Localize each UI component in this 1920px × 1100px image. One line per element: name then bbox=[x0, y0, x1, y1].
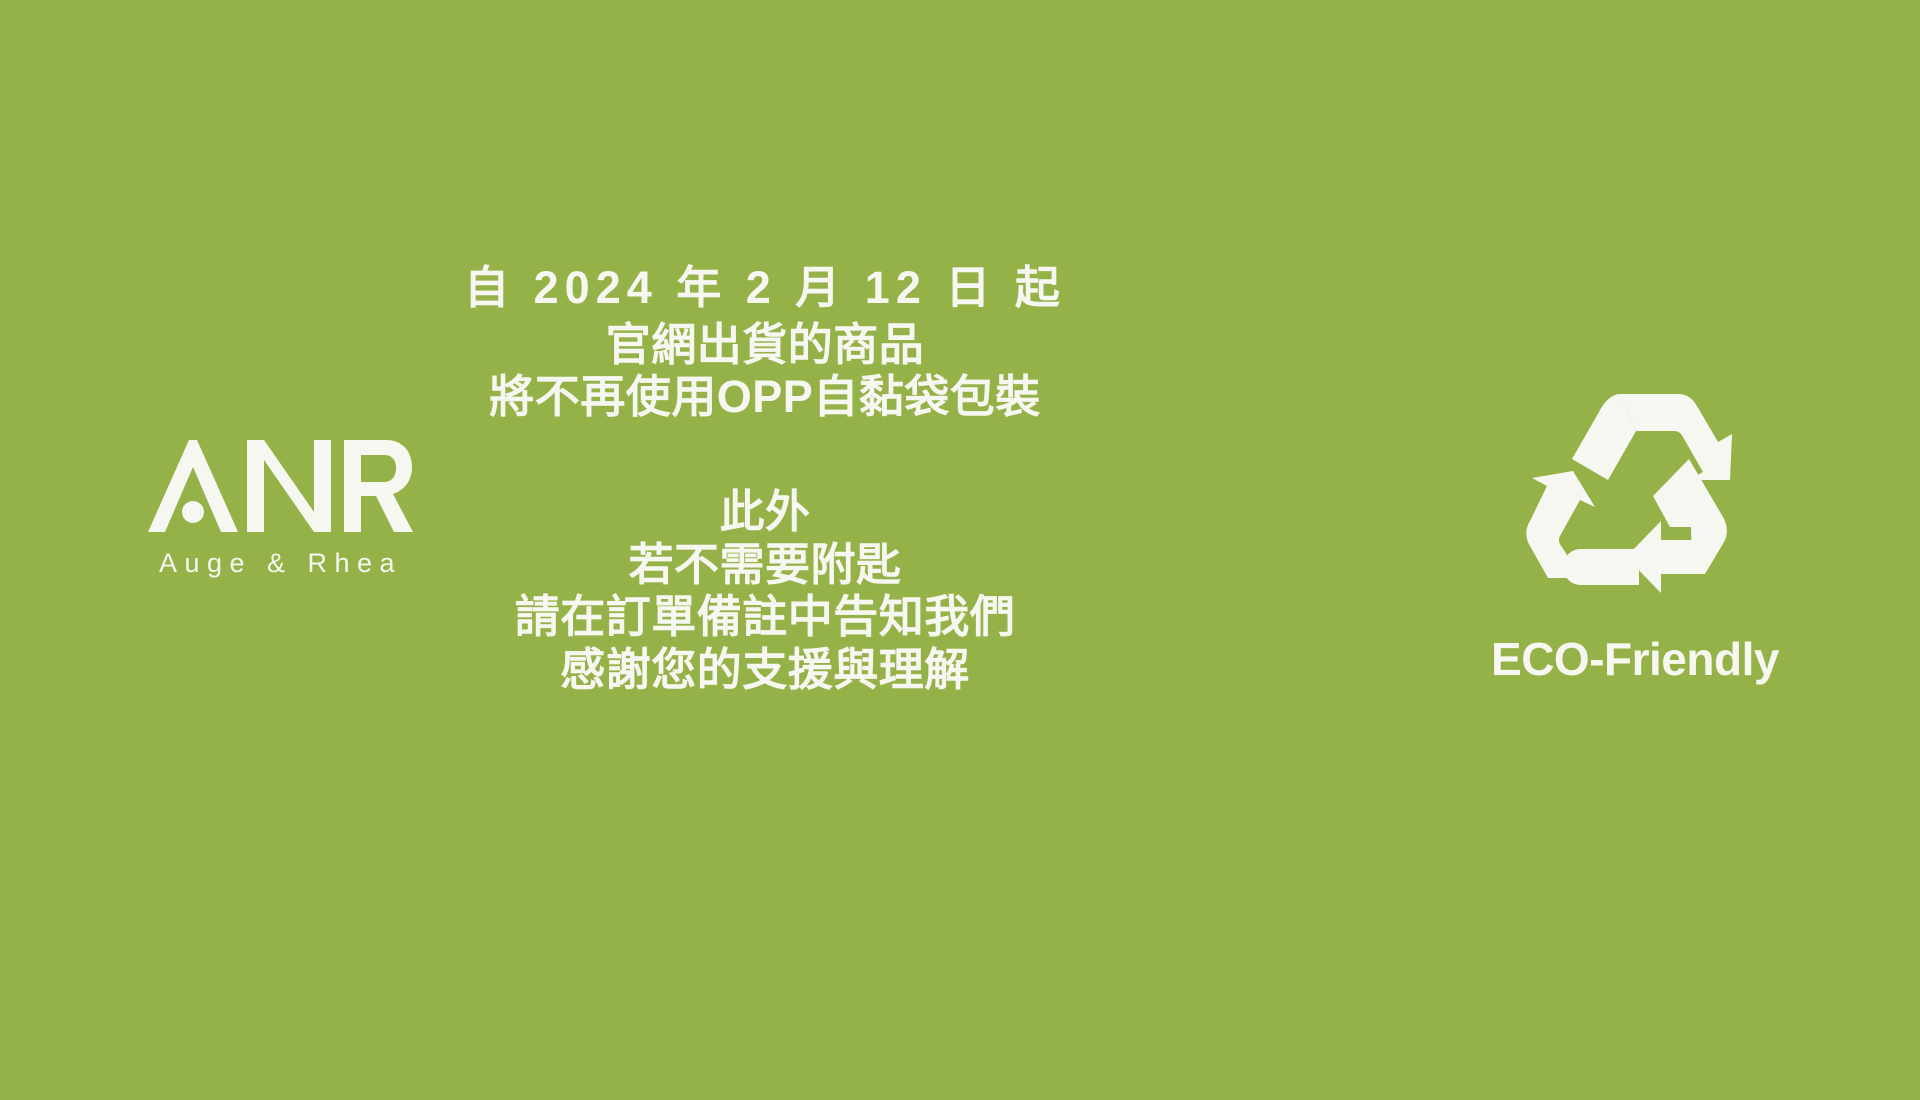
announcement-text: 自 2024 年 2 月 12 日 起 官網出貨的商品 將不再使用OPP自黏袋包… bbox=[0, 262, 1530, 696]
notice-sub-line-2: 若不需要附匙 bbox=[0, 539, 1530, 592]
notice-spacer bbox=[0, 424, 1530, 486]
recycling-symbol-icon bbox=[1515, 388, 1755, 610]
eco-friendly-label: ECO-Friendly bbox=[1490, 632, 1780, 686]
notice-body-line-1: 官網出貨的商品 bbox=[0, 319, 1530, 372]
notice-sub-line-1: 此外 bbox=[0, 486, 1530, 539]
notice-sub-line-3: 請在訂單備註中告知我們 bbox=[0, 591, 1530, 644]
notice-sub-line-4: 感謝您的支援與理解 bbox=[0, 644, 1530, 697]
promo-banner: Auge & Rhea 自 2024 年 2 月 12 日 起 官網出貨的商品 … bbox=[0, 0, 1920, 1100]
eco-friendly-badge: ECO-Friendly bbox=[1490, 388, 1780, 686]
notice-date-line: 自 2024 年 2 月 12 日 起 bbox=[0, 262, 1530, 315]
notice-body-line-2: 將不再使用OPP自黏袋包裝 bbox=[0, 371, 1530, 424]
